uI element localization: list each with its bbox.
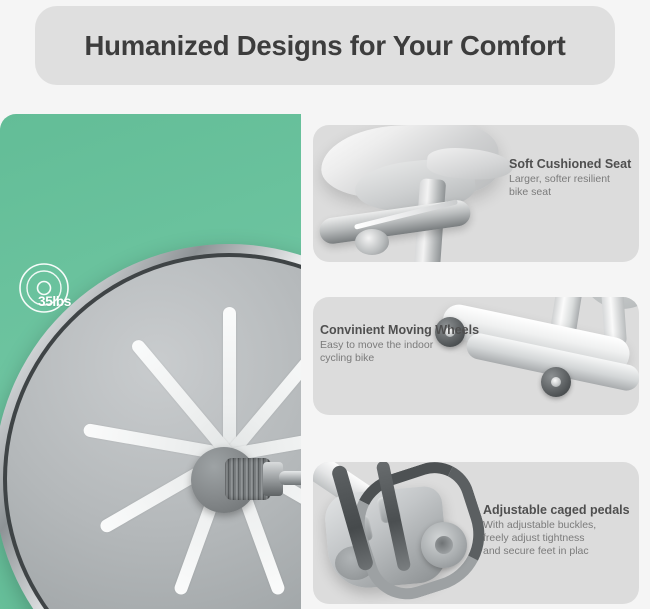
feature-card-list: Soft Cushioned Seat Larger, softer resil… [311,114,650,609]
weight-badge: 35lbs [16,262,86,318]
feature-text-pedals: Adjustable caged pedals With adjustable … [483,503,630,558]
caged-pedal-image [313,462,505,604]
feature-text-wheels: Convinient Moving Wheels Easy to move th… [320,323,479,365]
feature-card-wheels[interactable]: Convinient Moving Wheels Easy to move th… [313,297,639,415]
feature-title: Adjustable caged pedals [483,503,630,517]
flywheel-icon [16,262,86,318]
bike-seat-image [313,125,519,262]
flywheel-panel: 35lbs [0,114,301,609]
flywheel-hub [191,444,301,514]
weight-value: 35lbs [38,294,71,309]
feature-card-seat[interactable]: Soft Cushioned Seat Larger, softer resil… [313,125,639,262]
flywheel-spoke [223,307,236,455]
transport-wheel [541,367,571,397]
feature-title: Convinient Moving Wheels [320,323,479,337]
page-title: Humanized Designs for Your Comfort [84,30,565,62]
header-banner: Humanized Designs for Your Comfort [35,6,615,85]
seat-clamp [355,229,389,255]
feature-card-pedals[interactable]: Adjustable caged pedals With adjustable … [313,462,639,604]
hub-axle [279,471,301,485]
pedal-spindle [421,522,467,568]
feature-description: Larger, softer resilient bike seat [509,173,631,199]
feature-description: With adjustable buckles, freely adjust t… [483,519,630,558]
feature-text-seat: Soft Cushioned Seat Larger, softer resil… [509,157,631,199]
feature-title: Soft Cushioned Seat [509,157,631,171]
feature-description: Easy to move the indoor cycling bike [320,339,479,365]
